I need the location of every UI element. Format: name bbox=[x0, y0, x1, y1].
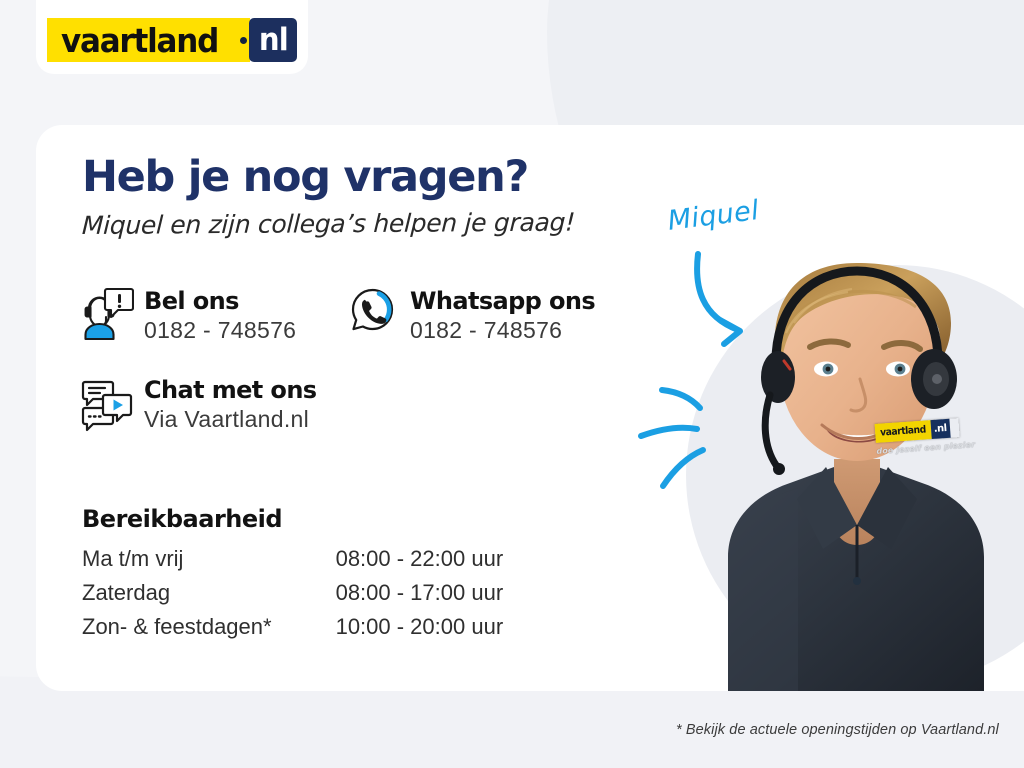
contact-text-whatsapp: Whatsapp ons 0182 - 748576 bbox=[410, 286, 595, 348]
availability-table: Ma t/m vrij 08:00 - 22:00 uur Zaterdag 0… bbox=[82, 547, 503, 649]
table-row: Zon- & feestdagen* 10:00 - 20:00 uur bbox=[82, 615, 503, 649]
contact-value[interactable]: 0182 - 748576 bbox=[410, 314, 595, 347]
footnote-text: * Bekijk de actuele openingstijden op Va… bbox=[676, 722, 999, 738]
chat-bubbles-icon bbox=[80, 375, 134, 433]
contact-text-phone: Bel ons 0182 - 748576 bbox=[144, 286, 296, 348]
logo-word-text: vaartland bbox=[61, 24, 218, 57]
hours-day: Zon- & feestdagen* bbox=[82, 615, 272, 649]
polo-logo-tld-text: .nl bbox=[933, 423, 947, 435]
brand-logo: vaartland nl bbox=[47, 18, 298, 62]
page-title: Heb je nog vragen? bbox=[82, 152, 528, 202]
polo-tagline: doe jezelf een plezier bbox=[876, 441, 960, 456]
contact-title: Bel ons bbox=[144, 288, 296, 314]
page-subtitle: Miquel en zijn collega’s helpen je graag… bbox=[81, 208, 575, 240]
brand-logo-card[interactable]: vaartland nl bbox=[36, 0, 308, 74]
agent-illustration bbox=[722, 129, 1022, 691]
headset-person-icon bbox=[80, 286, 134, 344]
contact-block-phone[interactable]: Bel ons 0182 - 748576 bbox=[80, 286, 296, 348]
hours-time: 08:00 - 17:00 uur bbox=[272, 581, 504, 615]
hours-time: 08:00 - 22:00 uur bbox=[272, 547, 504, 581]
logo-tld-block: nl bbox=[249, 18, 298, 62]
contact-block-whatsapp[interactable]: Whatsapp ons 0182 - 748576 bbox=[346, 286, 595, 348]
logo-tld-text: nl bbox=[259, 25, 288, 56]
polo-logo-word: vaartland bbox=[875, 420, 932, 443]
polo-brand-logo: vaartland .nl doe jezelf een plezier bbox=[875, 418, 962, 468]
hours-time: 10:00 - 20:00 uur bbox=[272, 615, 504, 649]
contact-value[interactable]: Via Vaartland.nl bbox=[144, 403, 317, 436]
logo-word-block: vaartland bbox=[47, 18, 240, 62]
hours-day: Zaterdag bbox=[82, 581, 272, 615]
availability-heading: Bereikbaarheid bbox=[82, 505, 282, 533]
hours-day: Ma t/m vrij bbox=[82, 547, 272, 581]
polo-logo-word-text: vaartland bbox=[880, 424, 926, 438]
contact-title: Whatsapp ons bbox=[410, 288, 595, 314]
polo-logo-tld: .nl bbox=[930, 419, 950, 439]
whatsapp-icon bbox=[346, 286, 400, 344]
contact-title: Chat met ons bbox=[144, 377, 317, 403]
table-row: Ma t/m vrij 08:00 - 22:00 uur bbox=[82, 547, 503, 581]
curved-arrow-icon bbox=[690, 250, 800, 360]
contact-value[interactable]: 0182 - 748576 bbox=[144, 314, 296, 347]
contact-text-chat: Chat met ons Via Vaartland.nl bbox=[144, 375, 317, 437]
speed-lines-decoration bbox=[636, 366, 746, 496]
contact-block-chat[interactable]: Chat met ons Via Vaartland.nl bbox=[80, 375, 317, 437]
table-row: Zaterdag 08:00 - 17:00 uur bbox=[82, 581, 503, 615]
